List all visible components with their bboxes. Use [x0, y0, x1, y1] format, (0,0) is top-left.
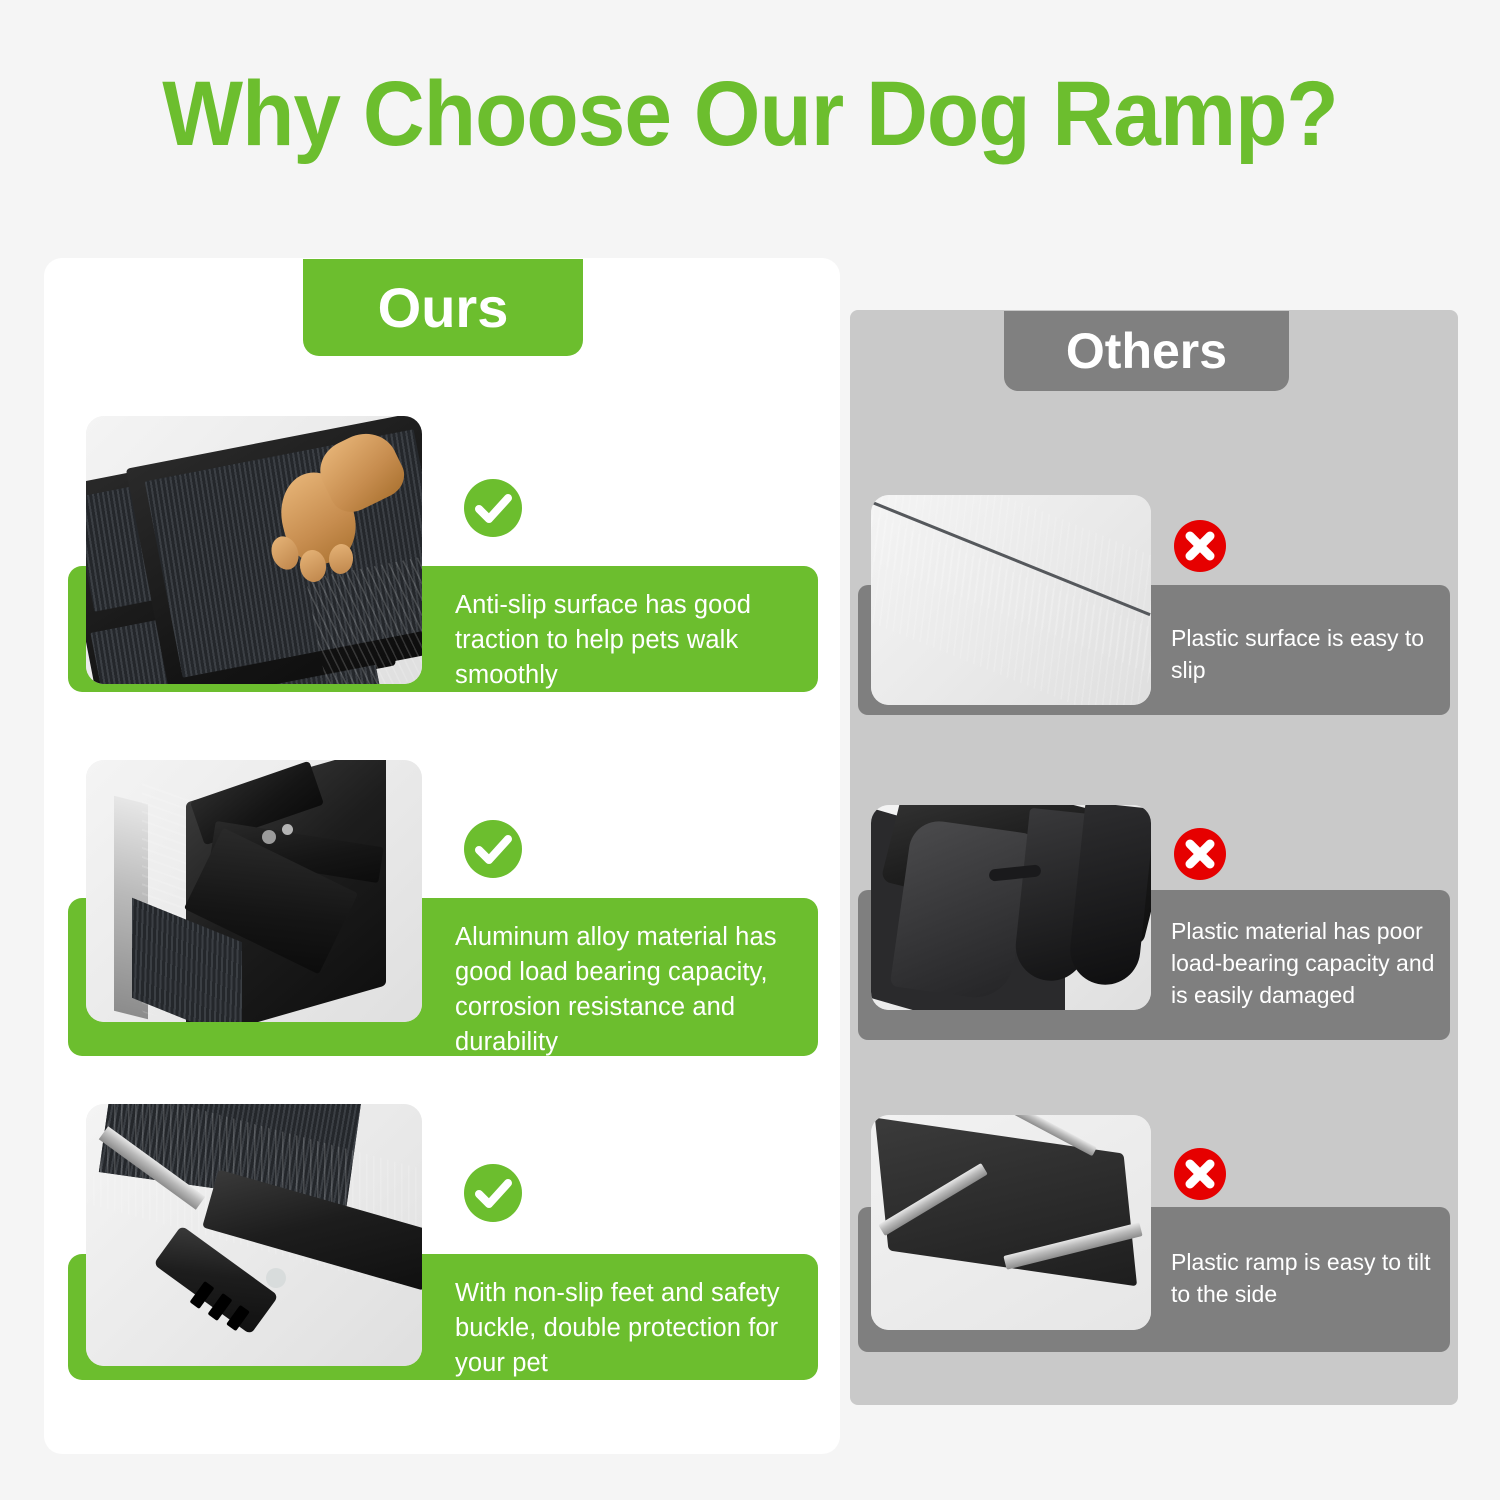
ours-badge-label: Ours	[378, 275, 509, 340]
others-photo-1	[871, 495, 1151, 705]
others-item-text-3: Plastic ramp is easy to tilt to the side	[1171, 1246, 1436, 1310]
cross-circle-icon-2	[1174, 828, 1226, 880]
others-photo-3	[871, 1115, 1151, 1330]
others-photo-2	[871, 805, 1151, 1010]
ours-item-text-3: With non-slip feet and safety buckle, do…	[455, 1276, 785, 1381]
others-item-text-1: Plastic surface is easy to slip	[1171, 622, 1436, 686]
ours-item-text-1: Anti-slip surface has good traction to h…	[455, 588, 785, 693]
others-badge-label: Others	[1066, 322, 1227, 380]
others-item-text-2: Plastic material has poor load-bearing c…	[1171, 915, 1436, 1011]
page-title: Why Choose Our Dog Ramp?	[53, 62, 1448, 167]
check-circle-icon-2	[464, 820, 522, 878]
cross-circle-icon-1	[1174, 520, 1226, 572]
ours-photo-2	[86, 760, 422, 1022]
check-circle-icon-1	[464, 479, 522, 537]
ours-item-text-2: Aluminum alloy material has good load be…	[455, 920, 785, 1060]
ours-badge: Ours	[303, 259, 583, 356]
others-badge: Others	[1004, 311, 1289, 391]
cross-circle-icon-3	[1174, 1148, 1226, 1200]
check-circle-icon-3	[464, 1164, 522, 1222]
ours-photo-1	[86, 416, 422, 684]
ours-photo-3	[86, 1104, 422, 1366]
